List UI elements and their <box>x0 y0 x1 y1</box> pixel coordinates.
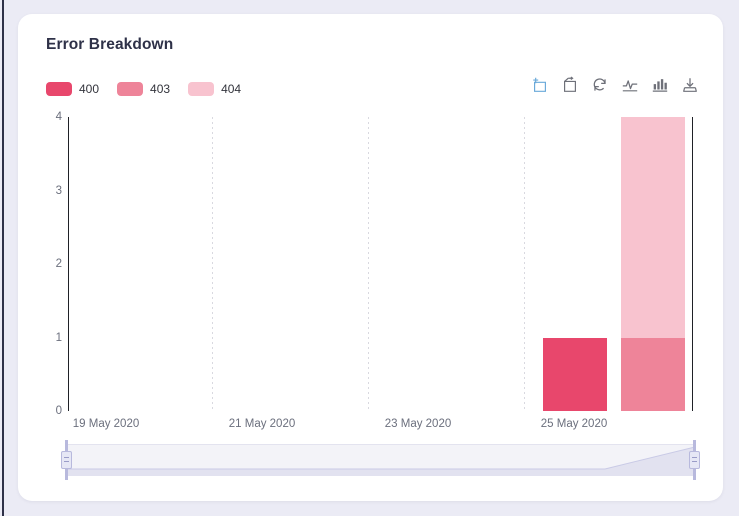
x-tick-label-1: 21 May 2020 <box>229 418 296 430</box>
x-tick-label-2: 23 May 2020 <box>385 418 452 430</box>
y-axis-line <box>68 117 69 411</box>
right-axis-line <box>692 117 693 411</box>
y-tick-label-2: 2 <box>56 258 62 270</box>
gridline-1 <box>212 117 213 411</box>
x-tick-label-3: 25 May 2020 <box>541 418 608 430</box>
datazoom-handle-left[interactable] <box>61 440 72 480</box>
datazoom-handle-right-grip <box>689 451 700 469</box>
gridline-3 <box>524 117 525 411</box>
datazoom-handle-left-grip <box>61 451 72 469</box>
datazoom-handle-right[interactable] <box>689 440 700 480</box>
datazoom-slider[interactable] <box>66 444 695 476</box>
y-tick-label-4: 4 <box>56 111 62 123</box>
gridline-2 <box>368 117 369 411</box>
chart-plot-area[interactable]: 0 1 2 3 4 19 May 2020 21 May 2020 23 May… <box>18 14 723 501</box>
error-breakdown-card: Error Breakdown 400 403 404 <box>18 14 723 501</box>
bar-404-26-may[interactable] <box>621 117 685 338</box>
x-tick-label-0: 19 May 2020 <box>73 418 140 430</box>
bar-403-26-may[interactable] <box>621 338 685 412</box>
bar-400-25-may[interactable] <box>543 338 607 412</box>
app-left-rail <box>2 0 4 516</box>
y-tick-label-0: 0 <box>56 405 62 417</box>
y-tick-label-3: 3 <box>56 185 62 197</box>
y-tick-label-1: 1 <box>56 332 62 344</box>
datazoom-preview-area <box>66 444 695 476</box>
datazoom-preview <box>66 444 695 476</box>
